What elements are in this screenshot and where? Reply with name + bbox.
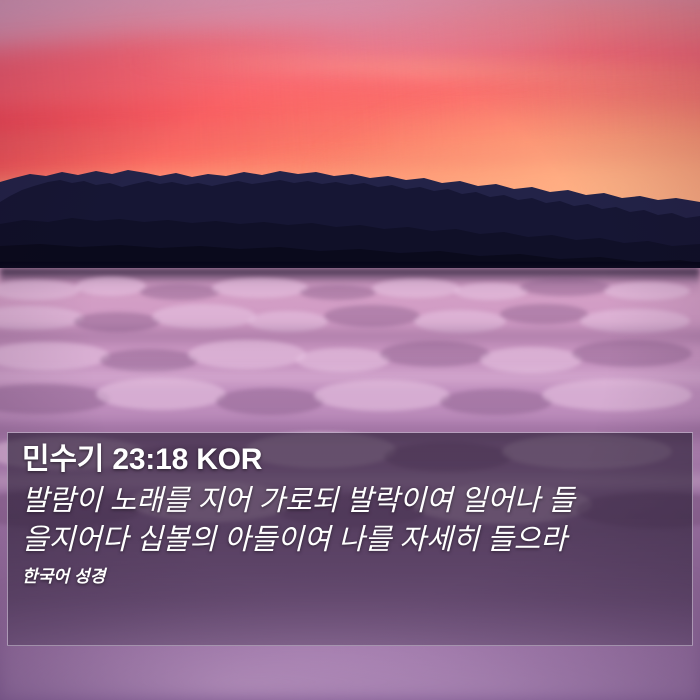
verse-text: 발람이 노래를 지어 가로되 발락이여 일어나 들 을지어다 십볼의 아들이여 … <box>22 482 678 560</box>
verse-reference-title: 민수기 23:18 KOR <box>22 442 678 478</box>
verse-card: 민수기 23:18 KOR 발람이 노래를 지어 가로되 발락이여 일어나 들 … <box>7 432 693 646</box>
verse-text-line-1: 발람이 노래를 지어 가로되 발락이여 일어나 들 <box>22 482 678 521</box>
verse-text-line-2: 을지어다 십볼의 아들이여 나를 자세히 들으라 <box>22 521 678 560</box>
verse-translation-label: 한국어 성경 <box>22 566 678 588</box>
cloud-row-4 <box>0 372 700 422</box>
verse-image-canvas: 민수기 23:18 KOR 발람이 노래를 지어 가로되 발락이여 일어나 들 … <box>0 0 700 700</box>
